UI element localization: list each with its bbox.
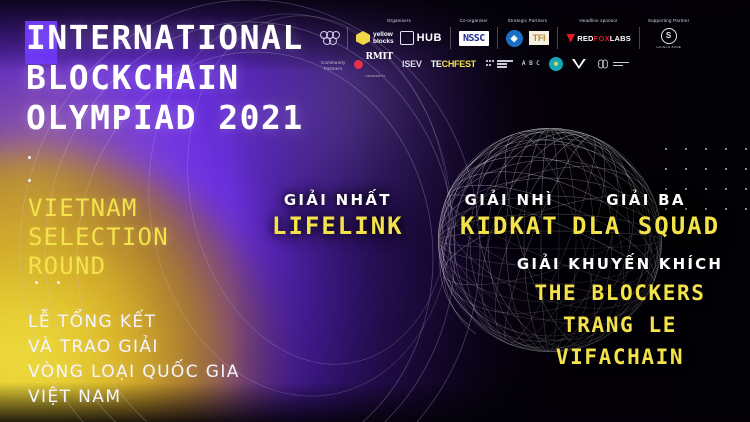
redfox-label-1: RED <box>577 34 593 43</box>
poster-canvas: INTERNATIONAL BLOCKCHAIN OLYMPIAD 2021 V… <box>0 0 750 422</box>
nssc-label: NSSC <box>463 33 485 44</box>
sponsor-caption-supporting: Supporting Partner <box>648 18 689 24</box>
isev-label: ISEV <box>402 59 422 69</box>
redfox-label-3: LABS <box>610 34 631 43</box>
hub-logo: HUB <box>400 31 442 45</box>
consolation-team-2: TRANG LE <box>505 313 735 337</box>
event-subtitle-vietnamese: LỄ TỔNG KẾT VÀ TRAO GIẢI VÒNG LOẠI QUỐC … <box>28 310 240 410</box>
sponsor-divider <box>639 27 640 49</box>
title-line-2: BLOCKCHAIN <box>26 58 304 98</box>
prize-second: GIẢI NHÌ KIDKAT <box>460 191 559 240</box>
consolation-rank: GIẢI KHUYẾN KHÍCH <box>505 255 735 273</box>
poster-title: INTERNATIONAL BLOCKCHAIN OLYMPIAD 2021 <box>26 18 304 138</box>
infinity-mark-icon <box>595 59 611 69</box>
prize-third-rank: GIẢI BA <box>572 191 720 209</box>
sponsor-group-co-organiser: Co-organiser NSSC <box>454 18 494 49</box>
decorative-dot <box>57 281 60 284</box>
sponsor-row-2: Community Partners RMIT UNIVERSITY ISEV … <box>316 53 746 75</box>
techfest-logo: TECHFEST <box>431 59 476 69</box>
sponsor-caption-strategic: Strategic Partners <box>508 18 548 24</box>
subtitle-line-1: VIETNAM <box>28 194 169 223</box>
olympiad-rings-icon <box>321 31 339 45</box>
yellow-blocks-logo: yellow blocks <box>356 31 394 45</box>
sponsor-caption-co-organiser: Co-organiser <box>460 18 488 24</box>
decorative-dot <box>35 281 38 284</box>
subtitle-line-3: ROUND <box>28 252 169 281</box>
launch-zone-circle-icon: S <box>661 28 677 44</box>
launch-zone-label: LAUNCH ZONE <box>656 45 681 49</box>
redfox-mark-icon <box>566 34 575 43</box>
abc-label: A B C <box>522 61 540 67</box>
tfi-label: TFI <box>533 33 546 43</box>
prize-first: GIẢI NHẤT LIFELINK <box>272 191 404 240</box>
decorative-dot <box>28 179 31 182</box>
consolation-team-1: THE BLOCKERS <box>505 281 735 305</box>
prize-third: GIẢI BA DLA SQUAD <box>572 191 720 240</box>
yellow-blocks-label-2: blocks <box>373 38 394 45</box>
prize-consolation: GIẢI KHUYẾN KHÍCH THE BLOCKERS TRANG LE … <box>505 255 735 369</box>
sponsor-group-community: Community Partners <box>316 60 350 75</box>
yellow-blocks-cube-icon <box>356 31 370 45</box>
redfoxlabs-logo: REDFOXLABS <box>566 34 631 43</box>
prize-first-rank: GIẢI NHẤT <box>272 191 404 209</box>
vn-line-3: VÒNG LOẠI QUỐC GIA <box>28 360 240 385</box>
v-mark-icon <box>572 59 586 69</box>
tfi-logo: TFI <box>529 31 550 45</box>
rmit-label: RMIT <box>365 52 393 62</box>
sponsor-bar: Organisers yellow blocks HUB <box>316 18 746 75</box>
redfox-label-2: FOX <box>594 34 610 43</box>
vn-line-2: VÀ TRAO GIẢI <box>28 335 240 360</box>
prize-third-team: DLA SQUAD <box>572 212 720 240</box>
event-subtitle-english: VIETNAM SELECTION ROUND <box>28 194 169 281</box>
partner-mark-icon <box>485 59 495 69</box>
hub-label: HUB <box>417 33 442 44</box>
community-partner-logo-5: A B C <box>522 61 540 67</box>
sponsor-group-ibo <box>316 24 344 49</box>
rmit-logo: RMIT UNIVERSITY <box>354 46 393 82</box>
community-partner-logo-4 <box>485 59 513 69</box>
community-partner-logo-6: ◉ <box>549 57 563 71</box>
title-line-3: OLYMPIAD 2021 <box>26 98 304 138</box>
vn-line-4: VIỆT NAM <box>28 385 240 410</box>
community-partner-logo-7 <box>572 59 586 69</box>
sponsor-group-supporting: Supporting Partner S LAUNCH ZONE <box>643 18 694 49</box>
sponsor-caption-organisers: Organisers <box>387 18 411 24</box>
hub-mark-icon <box>400 31 414 45</box>
prize-first-team: LIFELINK <box>272 212 404 240</box>
yellow-blocks-label-1: yellow <box>373 31 393 38</box>
prize-second-rank: GIẢI NHÌ <box>460 191 559 209</box>
rmit-sublabel: UNIVERSITY <box>365 74 385 78</box>
subtitle-line-2: SELECTION <box>28 223 169 252</box>
consolation-team-3: VIFACHAIN <box>505 345 735 369</box>
prize-second-team: KIDKAT <box>460 212 559 240</box>
community-partner-logo-8 <box>595 59 629 69</box>
vn-line-1: LỄ TỔNG KẾT <box>28 310 240 335</box>
sponsor-divider <box>450 27 451 49</box>
sponsor-divider <box>347 27 348 49</box>
sponsor-caption-community: Community Partners <box>321 60 345 72</box>
title-line-1: INTERNATIONAL <box>26 18 304 58</box>
rmit-dot-icon <box>354 60 363 69</box>
launch-zone-logo: S LAUNCH ZONE <box>656 28 681 49</box>
techfest-label-2: CHFEST <box>442 59 476 69</box>
sponsor-divider <box>497 27 498 49</box>
sponsor-divider <box>557 27 558 49</box>
isev-logo: ISEV <box>402 59 422 69</box>
nssc-logo: NSSC <box>459 31 489 46</box>
sponsor-group-strategic: Strategic Partners ◈ TFI <box>501 18 555 49</box>
decorative-dot <box>28 156 31 159</box>
sponsor-row-1: Organisers yellow blocks HUB <box>316 18 746 49</box>
strategic-partner-circle-icon: ◈ <box>506 30 523 47</box>
techfest-label-1: TE <box>431 59 442 69</box>
sponsor-group-organisers: Organisers yellow blocks HUB <box>351 18 447 49</box>
sponsor-group-headline: Headline sponsor REDFOXLABS <box>561 18 636 49</box>
sponsor-caption-headline: Headline sponsor <box>579 18 617 24</box>
